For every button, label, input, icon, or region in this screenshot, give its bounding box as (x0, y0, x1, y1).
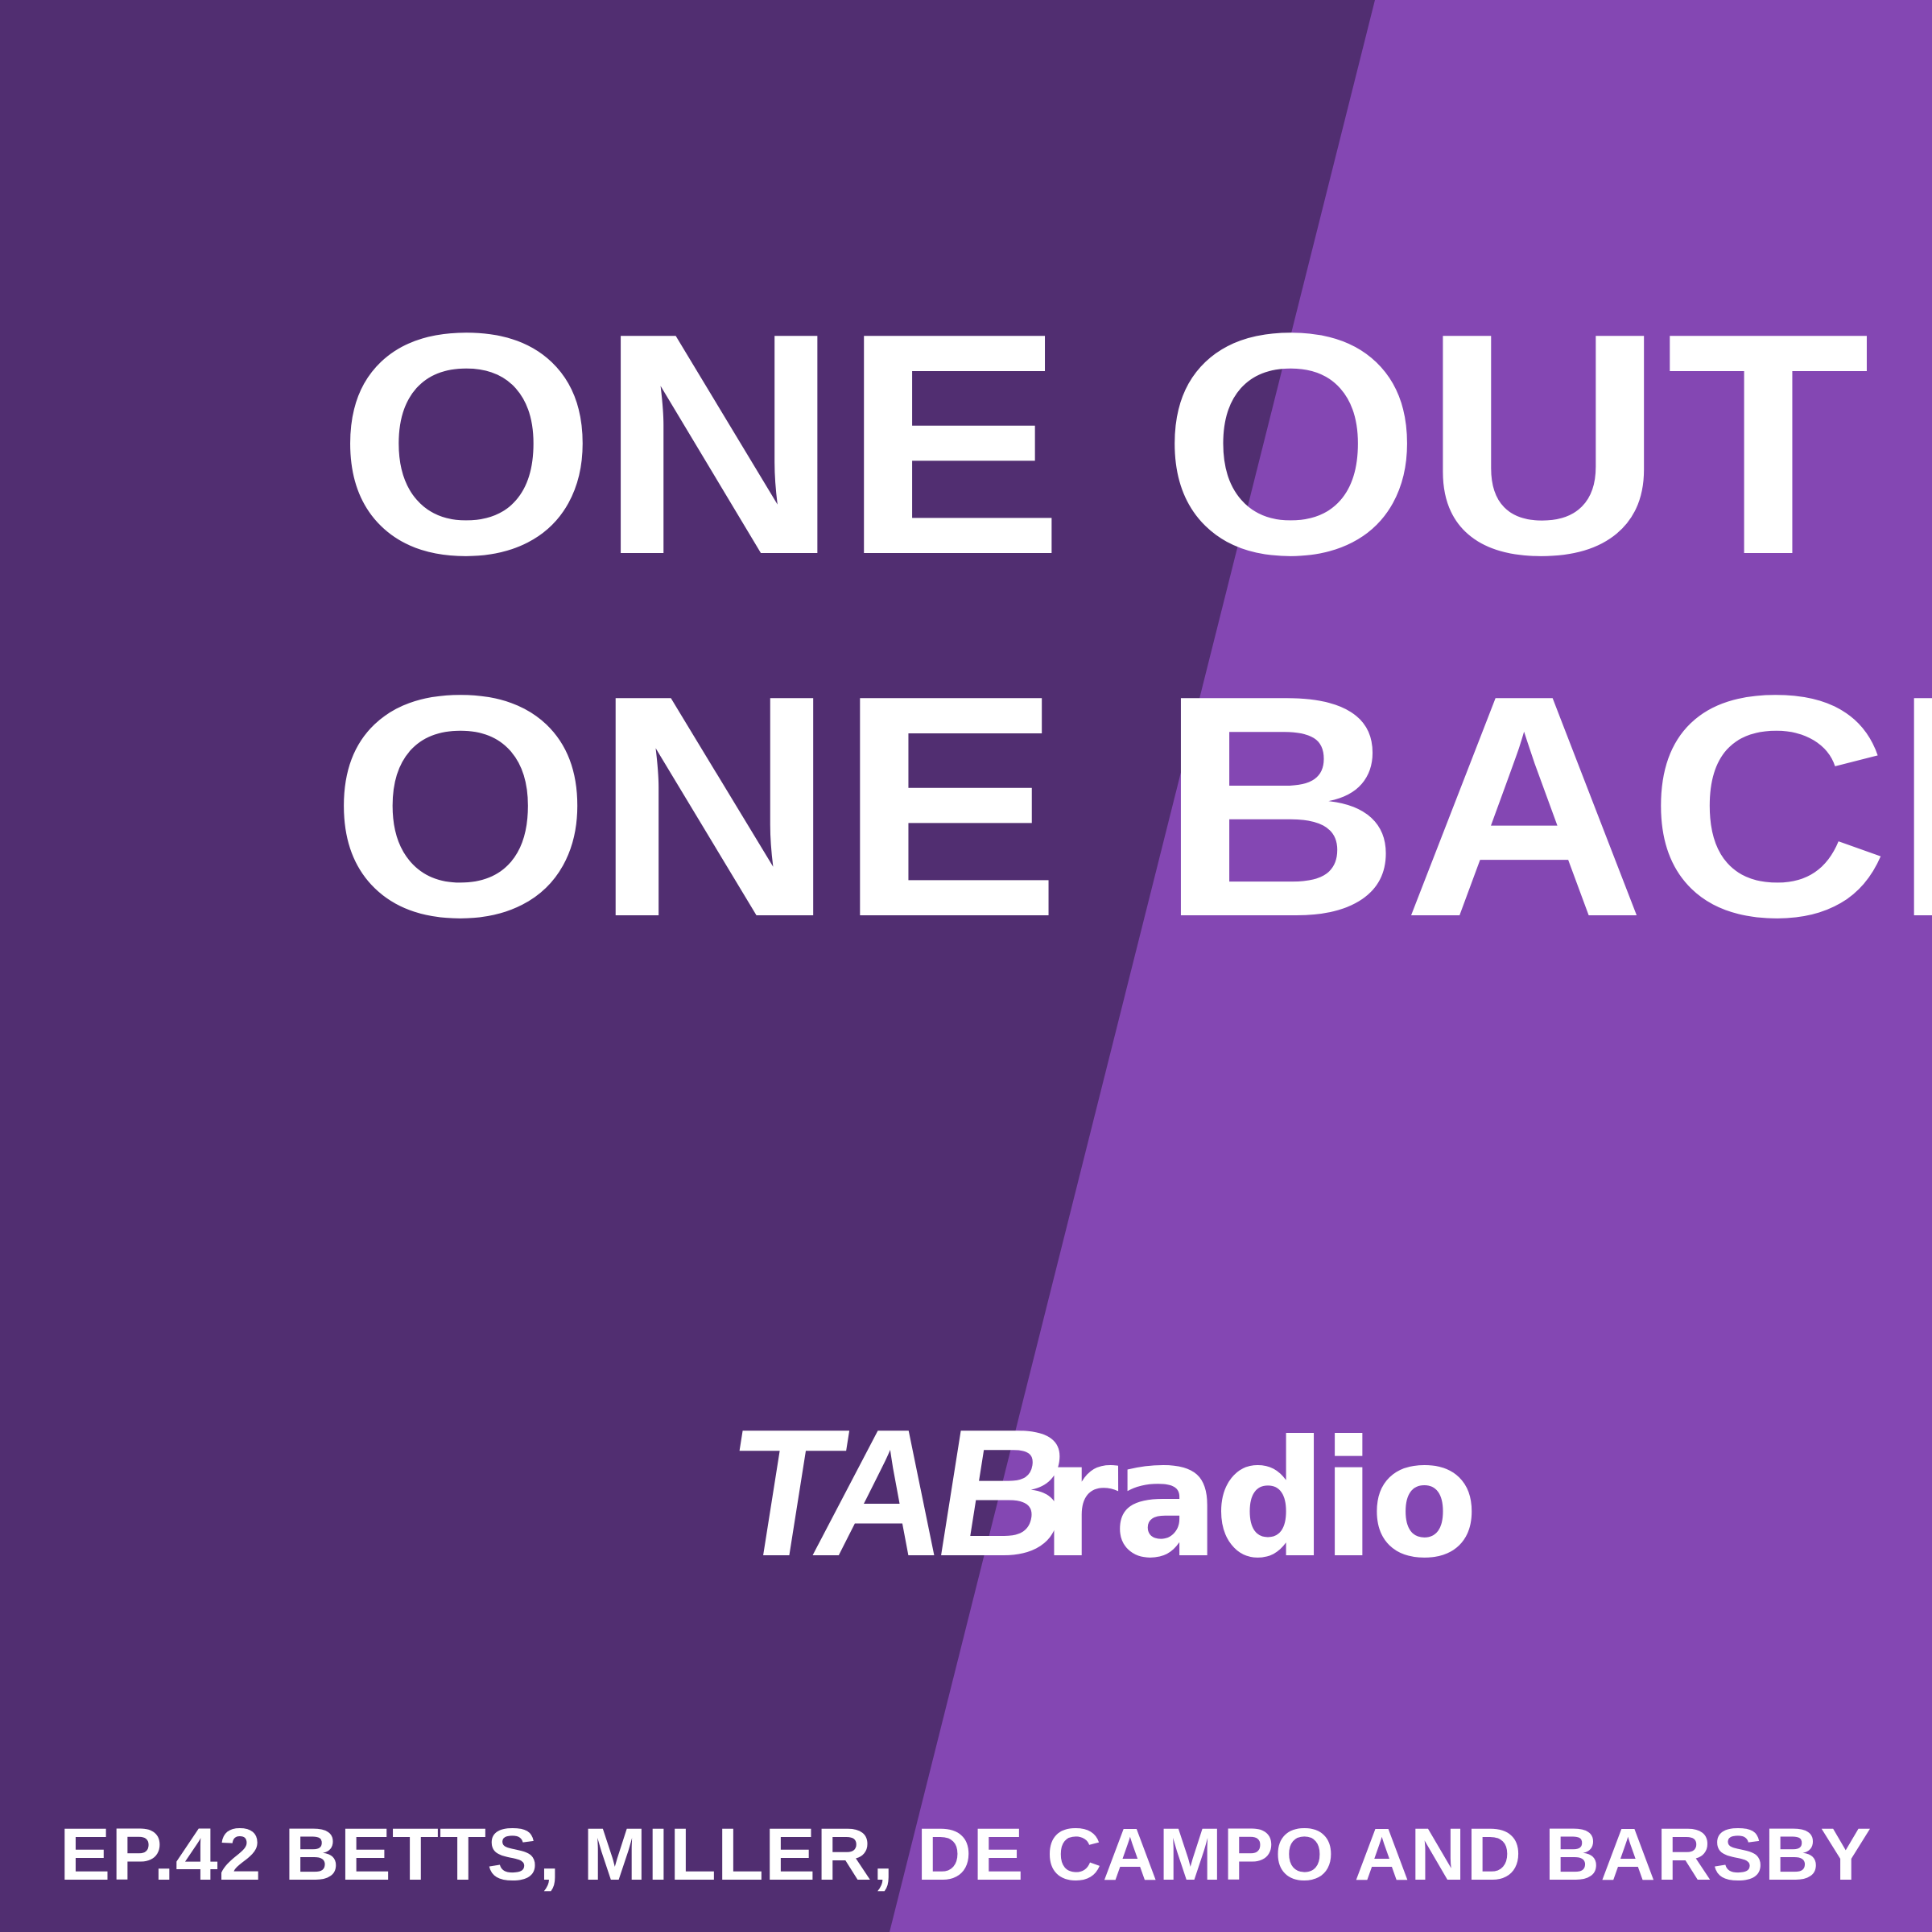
episode-caption: EP.42 BETTS, MILLER, DE CAMPO AND BARSBY (60, 1818, 1872, 1892)
podcast-cover-art: ONE OUT ONE BACK TAB radio EP.42 BETTS, … (0, 0, 1932, 1932)
tabradio-logo: TAB radio (716, 1402, 1481, 1575)
show-title-line-2: ONE BACK (330, 649, 1932, 964)
tabradio-logo-mark: TAB (716, 1402, 1074, 1583)
show-title-line-1: ONE OUT (336, 287, 1872, 602)
tabradio-logo-word: radio (1041, 1420, 1473, 1581)
